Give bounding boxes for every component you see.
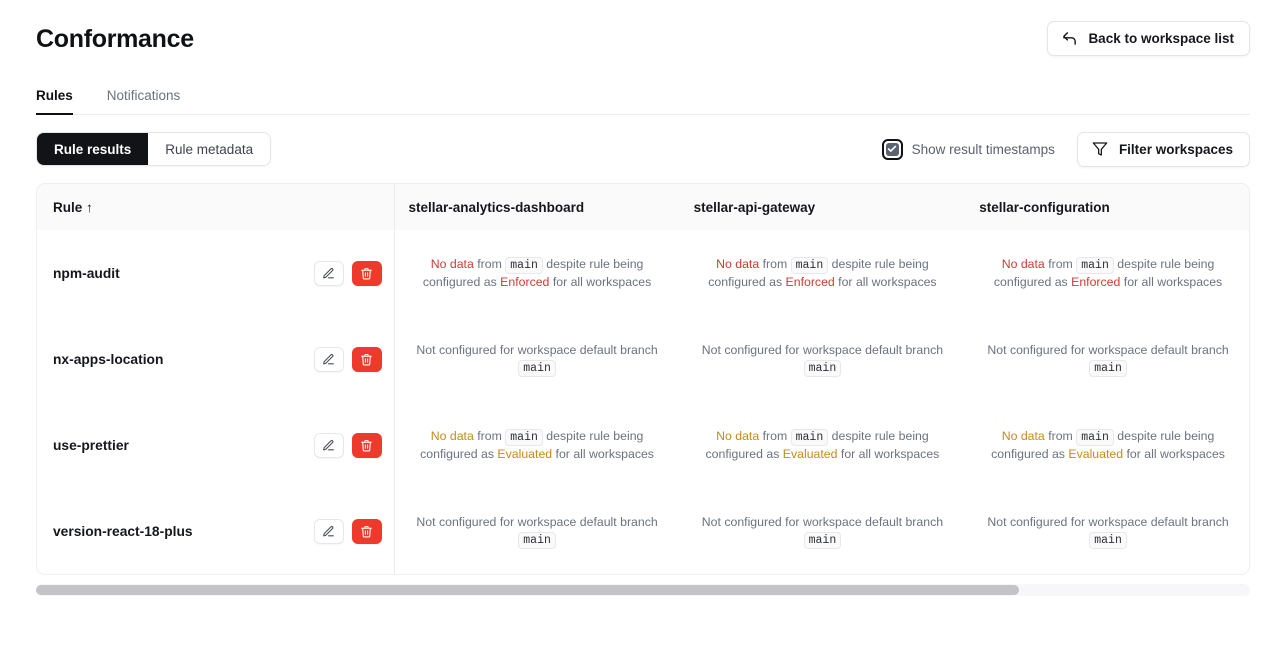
segment-rule-results-label: Rule results	[54, 142, 131, 157]
rule-name: nx-apps-location	[53, 352, 163, 367]
back-to-workspace-list-button[interactable]: Back to workspace list	[1047, 21, 1250, 56]
result-status: No data	[431, 429, 474, 443]
table-scroll-viewport: Rule ↑ stellar-analytics-dashboard stell…	[37, 184, 1249, 574]
rules-results-table: Rule ↑ stellar-analytics-dashboard stell…	[36, 183, 1250, 575]
segment-rule-metadata-label: Rule metadata	[165, 142, 253, 157]
result-from-label: from	[477, 429, 502, 443]
branch-badge: main	[505, 257, 543, 274]
result-cell: No data from main despite rule being con…	[394, 402, 680, 488]
result-cell: Not configured for workspace default bra…	[680, 316, 966, 402]
table-body: npm-auditNo data from main despite rule …	[37, 230, 1249, 574]
result-config-mode: Evaluated	[783, 447, 838, 461]
edit-rule-button[interactable]	[314, 347, 344, 372]
segment-rule-results[interactable]: Rule results	[37, 133, 148, 165]
pencil-icon	[322, 267, 335, 280]
column-header-workspace-1[interactable]: stellar-api-gateway	[680, 184, 966, 230]
edit-rule-button[interactable]	[314, 519, 344, 544]
result-text: Not configured for workspace default bra…	[702, 515, 943, 529]
show-result-timestamps-label: Show result timestamps	[912, 142, 1055, 157]
show-result-timestamps-checkbox[interactable]: Show result timestamps	[882, 139, 1055, 160]
checkbox-focus-ring	[882, 139, 903, 160]
table-row: use-prettierNo data from main despite ru…	[37, 402, 1249, 488]
branch-badge: main	[791, 429, 829, 446]
result-tail-text: for all workspaces	[1124, 275, 1222, 289]
result-tail-text: for all workspaces	[838, 275, 936, 289]
table-header: Rule ↑ stellar-analytics-dashboard stell…	[37, 184, 1249, 230]
edit-rule-button[interactable]	[314, 261, 344, 286]
trash-icon	[360, 267, 373, 280]
segment-rule-metadata[interactable]: Rule metadata	[148, 133, 270, 165]
conformance-grid: Rule ↑ stellar-analytics-dashboard stell…	[37, 184, 1249, 574]
filter-workspaces-button[interactable]: Filter workspaces	[1077, 132, 1250, 167]
rule-name: use-prettier	[53, 438, 129, 453]
result-status: No data	[1002, 429, 1045, 443]
branch-badge: main	[804, 360, 842, 377]
result-from-label: from	[763, 429, 788, 443]
result-tail-text: for all workspaces	[553, 275, 651, 289]
trash-icon	[360, 353, 373, 366]
column-header-rule-label: Rule	[53, 200, 82, 215]
result-cell: Not configured for workspace default bra…	[965, 316, 1249, 402]
result-cell: Not configured for workspace default bra…	[394, 316, 680, 402]
funnel-icon	[1092, 141, 1108, 157]
page-title: Conformance	[36, 25, 194, 54]
toolbar-right-group: Show result timestamps Filter workspaces	[882, 132, 1250, 167]
tab-rules-label: Rules	[36, 88, 73, 103]
pencil-icon	[322, 353, 335, 366]
edit-rule-button[interactable]	[314, 433, 344, 458]
result-status: No data	[431, 257, 474, 271]
result-text: Not configured for workspace default bra…	[987, 515, 1228, 529]
pencil-icon	[322, 439, 335, 452]
branch-badge: main	[1089, 360, 1127, 377]
result-text: Not configured for workspace default bra…	[702, 343, 943, 357]
result-tail-text: for all workspaces	[841, 447, 939, 461]
back-arrow-icon	[1061, 30, 1078, 47]
checkbox-check-icon	[886, 143, 899, 156]
result-tail-text: for all workspaces	[556, 447, 654, 461]
result-config-mode: Enforced	[1071, 275, 1120, 289]
result-status: No data	[716, 429, 759, 443]
row-action-group	[314, 433, 382, 458]
filter-workspaces-label: Filter workspaces	[1119, 142, 1233, 157]
branch-badge: main	[1089, 532, 1127, 549]
branch-badge: main	[1076, 257, 1114, 274]
result-from-label: from	[1048, 429, 1073, 443]
result-status: No data	[1002, 257, 1045, 271]
table-row: version-react-18-plusNot configured for …	[37, 488, 1249, 574]
rule-cell: npm-audit	[37, 230, 394, 316]
result-text: Not configured for workspace default bra…	[987, 343, 1228, 357]
rule-cell: nx-apps-location	[37, 316, 394, 402]
result-config-mode: Enforced	[500, 275, 549, 289]
pencil-icon	[322, 525, 335, 538]
view-mode-segmented-control: Rule results Rule metadata	[36, 132, 271, 166]
result-tail-text: for all workspaces	[1127, 447, 1225, 461]
result-status: No data	[716, 257, 759, 271]
tab-bar: Rules Notifications	[36, 78, 1250, 115]
delete-rule-button[interactable]	[352, 261, 382, 286]
rule-cell: version-react-18-plus	[37, 488, 394, 574]
result-cell: Not configured for workspace default bra…	[394, 488, 680, 574]
tab-notifications[interactable]: Notifications	[91, 77, 197, 114]
branch-badge: main	[1076, 429, 1114, 446]
result-from-label: from	[1048, 257, 1073, 271]
branch-badge: main	[505, 429, 543, 446]
sort-ascending-icon: ↑	[86, 200, 93, 215]
result-text: Not configured for workspace default bra…	[416, 343, 657, 357]
result-cell: No data from main despite rule being con…	[680, 230, 966, 316]
result-cell: Not configured for workspace default bra…	[965, 488, 1249, 574]
result-cell: No data from main despite rule being con…	[965, 402, 1249, 488]
branch-badge: main	[518, 532, 556, 549]
horizontal-scrollbar-thumb[interactable]	[36, 585, 1019, 595]
result-from-label: from	[477, 257, 502, 271]
row-action-group	[314, 519, 382, 544]
rule-name: version-react-18-plus	[53, 524, 193, 539]
branch-badge: main	[518, 360, 556, 377]
column-header-workspace-2[interactable]: stellar-configuration	[965, 184, 1249, 230]
tab-notifications-label: Notifications	[107, 88, 181, 103]
result-cell: Not configured for workspace default bra…	[680, 488, 966, 574]
back-button-label: Back to workspace list	[1088, 31, 1234, 46]
table-row: npm-auditNo data from main despite rule …	[37, 230, 1249, 316]
tab-rules[interactable]: Rules	[36, 77, 91, 114]
branch-badge: main	[804, 532, 842, 549]
delete-rule-button[interactable]	[352, 347, 382, 372]
trash-icon	[360, 525, 373, 538]
result-config-mode: Evaluated	[1068, 447, 1123, 461]
page-header: Conformance Back to workspace list	[0, 0, 1286, 78]
result-text: Not configured for workspace default bra…	[416, 515, 657, 529]
rule-cell: use-prettier	[37, 402, 394, 488]
result-cell: No data from main despite rule being con…	[680, 402, 966, 488]
column-header-workspace-0[interactable]: stellar-analytics-dashboard	[394, 184, 680, 230]
row-action-group	[314, 347, 382, 372]
delete-rule-button[interactable]	[352, 433, 382, 458]
result-from-label: from	[763, 257, 788, 271]
trash-icon	[360, 439, 373, 452]
result-cell: No data from main despite rule being con…	[965, 230, 1249, 316]
delete-rule-button[interactable]	[352, 519, 382, 544]
row-action-group	[314, 261, 382, 286]
result-config-mode: Evaluated	[497, 447, 552, 461]
result-config-mode: Enforced	[786, 275, 835, 289]
table-row: nx-apps-locationNot configured for works…	[37, 316, 1249, 402]
branch-badge: main	[791, 257, 829, 274]
result-cell: No data from main despite rule being con…	[394, 230, 680, 316]
column-header-rule[interactable]: Rule ↑	[37, 184, 394, 230]
rule-name: npm-audit	[53, 266, 120, 281]
horizontal-scrollbar-track[interactable]	[36, 584, 1250, 596]
toolbar: Rule results Rule metadata Show result t…	[36, 115, 1250, 183]
table-header-row: Rule ↑ stellar-analytics-dashboard stell…	[37, 184, 1249, 230]
